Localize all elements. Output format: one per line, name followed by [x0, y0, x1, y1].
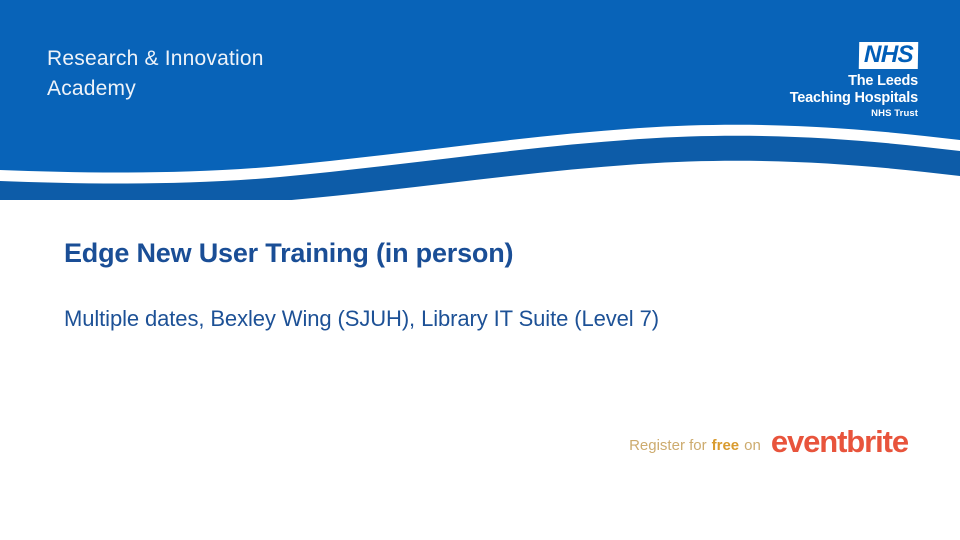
- event-title: Edge New User Training (in person): [64, 238, 513, 269]
- brand-title: Research & Innovation Academy: [47, 44, 447, 104]
- header-banner: Research & Innovation Academy NHS The Le…: [0, 0, 960, 200]
- eventbrite-wordmark[interactable]: eventbrite: [771, 426, 908, 457]
- event-subtitle: Multiple dates, Bexley Wing (SJUH), Libr…: [64, 306, 659, 332]
- nhs-trust-name: The Leeds Teaching Hospitals: [760, 73, 918, 106]
- nhs-trust-logo: NHS The Leeds Teaching Hospitals NHS Tru…: [760, 42, 918, 120]
- register-prefix-label: Register for: [629, 437, 707, 454]
- nhs-trust-sub: NHS Trust: [760, 108, 918, 120]
- nhs-trust-line1: The Leeds: [848, 73, 918, 89]
- event-slide: Research & Innovation Academy NHS The Le…: [0, 0, 960, 540]
- register-free-label: free: [712, 437, 740, 454]
- brand-title-line2: Academy: [47, 77, 136, 100]
- brand-title-line1: Research & Innovation: [47, 47, 264, 70]
- nhs-trust-line2: Teaching Hospitals: [790, 90, 918, 106]
- nhs-mark: NHS: [859, 42, 919, 69]
- register-suffix-label: on: [744, 437, 761, 454]
- eventbrite-register-footer[interactable]: Register for free on eventbrite: [560, 424, 908, 458]
